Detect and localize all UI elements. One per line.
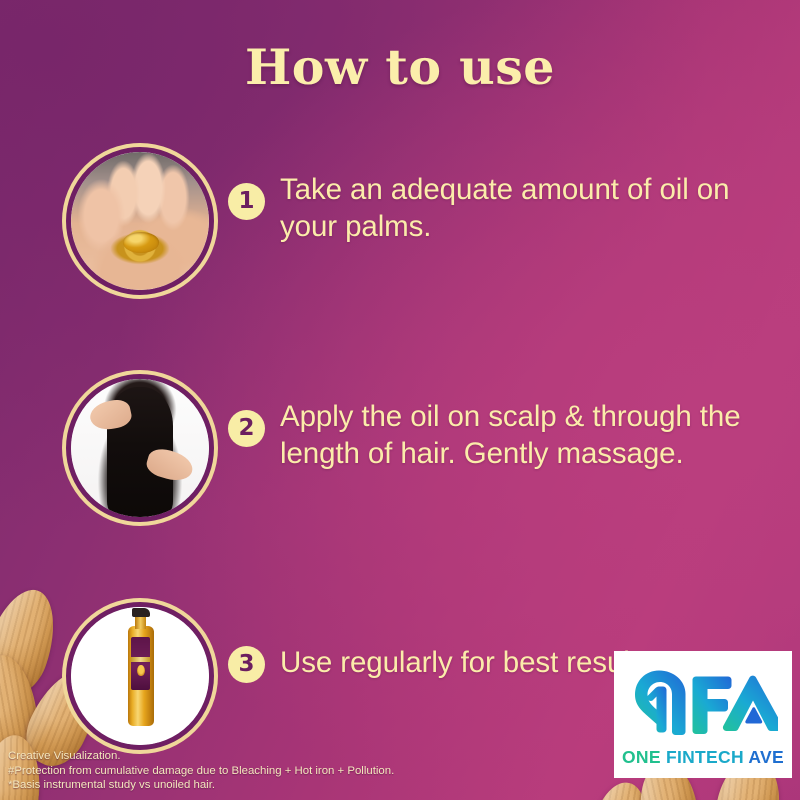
step-number-badge-2: 2 xyxy=(228,410,265,447)
poster-canvas: How to use 1 Take an adequate amount of … xyxy=(0,0,800,800)
hair-massage-photo xyxy=(71,379,209,517)
step-image-circle-1 xyxy=(62,143,218,299)
step-text-1: Take an adequate amount of oil on your p… xyxy=(280,171,780,245)
circle-ring xyxy=(66,374,214,522)
disclaimer-line-2: #Protection from cumulative damage due t… xyxy=(8,764,568,779)
logo-word-fintech: FINTECH xyxy=(666,747,744,767)
bottle-pump-cap xyxy=(132,608,150,616)
step-number-badge-3: 3 xyxy=(228,646,265,683)
footer-disclaimer: Creative Visualization. #Protection from… xyxy=(8,749,568,793)
almond-drops-oil-bottle-photo xyxy=(71,607,209,745)
disclaimer-line-1: Creative Visualization. xyxy=(8,749,568,764)
step-image-circle-3 xyxy=(62,598,218,754)
logo-word-ave: AVE xyxy=(748,747,784,767)
bottle-label xyxy=(131,637,150,689)
logo-wordmark: ONE FINTECH AVE xyxy=(622,748,784,766)
circle-ring xyxy=(66,147,214,295)
page-title: How to use xyxy=(0,38,800,96)
step-number-badge-1: 1 xyxy=(228,183,265,220)
brand-logo: ONE FINTECH AVE xyxy=(614,651,792,778)
hand-with-oil-drop-photo xyxy=(71,152,209,290)
disclaimer-line-3: *Basis instrumental study vs unoiled hai… xyxy=(8,778,568,793)
one-fintech-ave-logo-icon xyxy=(628,664,778,744)
logo-word-one: ONE xyxy=(622,747,661,767)
bottle-neck xyxy=(135,615,146,629)
oil-drop-icon xyxy=(123,232,159,253)
circle-ring xyxy=(66,602,214,750)
step-text-2: Apply the oil on scalp & through the len… xyxy=(280,398,780,472)
bottle-label-band xyxy=(131,657,150,663)
step-image-circle-2 xyxy=(62,370,218,526)
